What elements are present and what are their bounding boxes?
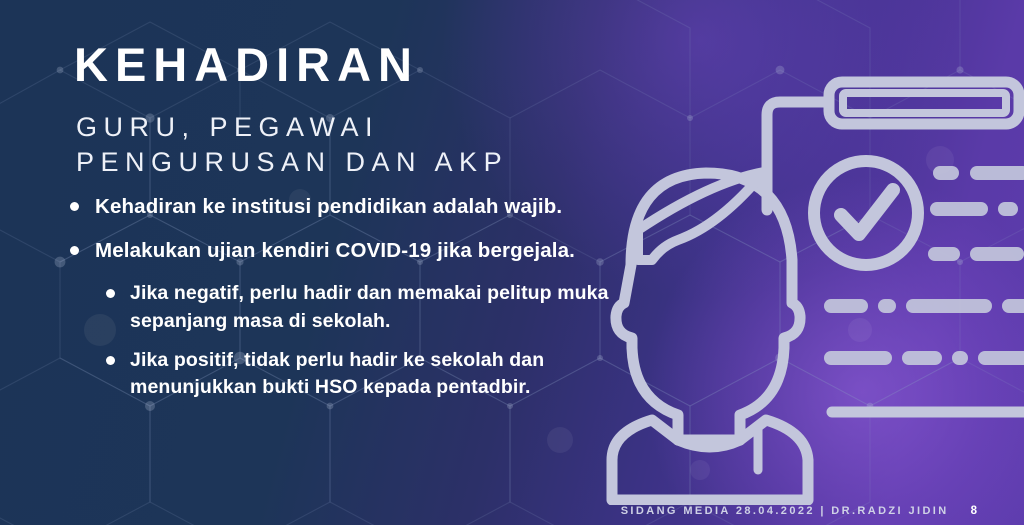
list-item: Melakukan ujian kendiri COVID-19 jika be… — [70, 236, 610, 265]
presentation-slide: KEHADIRAN GURU, PEGAWAI PENGURUSAN DAN A… — [0, 0, 1024, 525]
list-item: Jika positif, tidak perlu hadir ke sekol… — [106, 347, 610, 402]
slide-footer: SIDANG MEDIA 28.04.2022 | DR.RADZI JIDIN… — [621, 505, 978, 517]
footer-credit: SIDANG MEDIA 28.04.2022 | DR.RADZI JIDIN — [621, 505, 949, 517]
sub-bullet-list: Jika negatif, perlu hadir dan memakai pe… — [106, 280, 610, 401]
clipboard-clip — [843, 93, 1006, 113]
bullet-text: Kehadiran ke institusi pendidikan adalah… — [95, 192, 562, 221]
bullet-dot-icon — [106, 289, 115, 298]
bullet-dot-icon — [70, 246, 79, 255]
person-shoulders — [612, 420, 808, 500]
person-with-checklist-illustration — [600, 60, 1024, 505]
bullet-dot-icon — [106, 356, 115, 365]
sub-bullet-text: Jika negatif, perlu hadir dan memakai pe… — [130, 280, 610, 335]
slide-page-number: 8 — [971, 505, 978, 517]
sub-bullet-text: Jika positif, tidak perlu hadir ke sekol… — [130, 347, 610, 402]
bullet-dot-icon — [70, 202, 79, 211]
list-item: Kehadiran ke institusi pendidikan adalah… — [70, 192, 610, 221]
page-subtitle: GURU, PEGAWAI PENGURUSAN DAN AKP — [76, 110, 508, 180]
bullet-list: Kehadiran ke institusi pendidikan adalah… — [70, 192, 610, 413]
page-title: KEHADIRAN — [74, 41, 419, 88]
check-circle-icon — [814, 161, 918, 265]
list-item: Jika negatif, perlu hadir dan memakai pe… — [106, 280, 610, 335]
text-column: KEHADIRAN GURU, PEGAWAI PENGURUSAN DAN A… — [0, 0, 620, 525]
bullet-text: Melakukan ujian kendiri COVID-19 jika be… — [95, 236, 575, 265]
